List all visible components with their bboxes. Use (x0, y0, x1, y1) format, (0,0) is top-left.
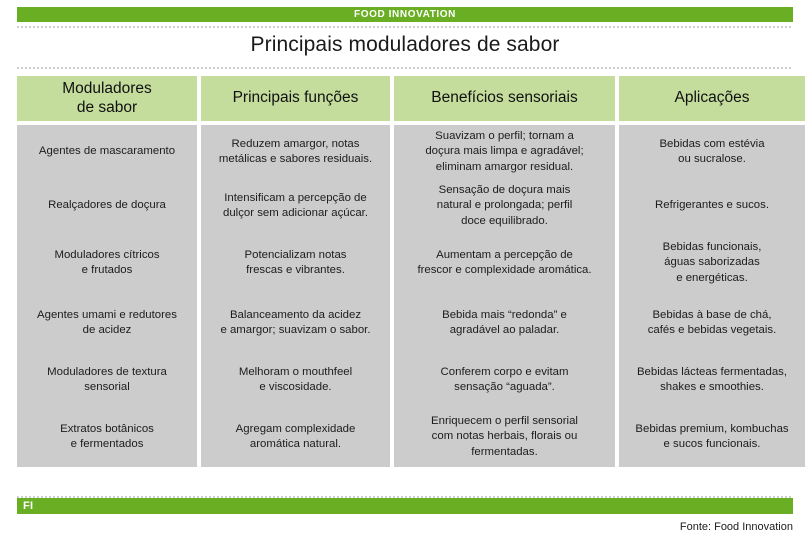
cell-modulator: Extratos botânicos e fermentados (17, 407, 197, 467)
column-header-applications: Aplicações (619, 76, 805, 121)
cell-application: Bebidas premium, kombuchas e sucos funci… (619, 407, 805, 467)
table-header-row: Moduladores de sabor Principais funções … (17, 76, 793, 121)
table-row: Agentes de mascaramento Reduzem amargor,… (17, 125, 793, 179)
cell-function: Agregam complexidade aromática natural. (201, 407, 390, 467)
footer-bar: FI (17, 498, 793, 514)
cell-modulator: Moduladores de textura sensorial (17, 353, 197, 407)
infographic-page: FOOD INNOVATION Principais moduladores d… (0, 7, 810, 542)
modulators-table: Moduladores de sabor Principais funções … (17, 76, 793, 467)
cell-application: Bebidas à base de chá, cafés e bebidas v… (619, 293, 805, 353)
table-row: Realçadores de doçura Intensificam a per… (17, 179, 793, 233)
brand-bar: FOOD INNOVATION (17, 7, 793, 22)
cell-modulator: Moduladores cítricos e frutados (17, 233, 197, 293)
fi-logo: FI (23, 501, 33, 512)
column-header-modulators: Moduladores de sabor (17, 76, 197, 121)
cell-application: Bebidas lácteas fermentadas, shakes e sm… (619, 353, 805, 407)
cell-function: Potencializam notas frescas e vibrantes. (201, 233, 390, 293)
table-row: Agentes umami e redutores de acidez Bala… (17, 293, 793, 353)
cell-benefit: Enriquecem o perfil sensorial com notas … (394, 407, 615, 467)
cell-application: Bebidas funcionais, águas saborizadas e … (619, 233, 805, 293)
brand-bar-label: FOOD INNOVATION (354, 9, 456, 20)
cell-benefit: Suavizam o perfil; tornam a doçura mais … (394, 125, 615, 179)
cell-benefit: Bebida mais “redonda” e agradável ao pal… (394, 293, 615, 353)
cell-benefit: Conferem corpo e evitam sensação “aguada… (394, 353, 615, 407)
cell-application: Refrigerantes e sucos. (619, 179, 805, 233)
cell-function: Reduzem amargor, notas metálicas e sabor… (201, 125, 390, 179)
table-row: Moduladores de textura sensorial Melhora… (17, 353, 793, 407)
column-header-functions: Principais funções (201, 76, 390, 121)
page-title: Principais moduladores de sabor (17, 28, 793, 61)
cell-modulator: Agentes de mascaramento (17, 125, 197, 179)
cell-function: Intensificam a percepção de dulçor sem a… (201, 179, 390, 233)
page-footer: FI Fonte: Food Innovation (17, 492, 793, 533)
cell-modulator: Realçadores de doçura (17, 179, 197, 233)
source-credit: Fonte: Food Innovation (17, 514, 793, 533)
cell-function: Balanceamento da acidez e amargor; suavi… (201, 293, 390, 353)
table-row: Moduladores cítricos e frutados Potencia… (17, 233, 793, 293)
divider-under-title (17, 67, 793, 69)
cell-function: Melhoram o mouthfeel e viscosidade. (201, 353, 390, 407)
cell-benefit: Sensação de doçura mais natural e prolon… (394, 179, 615, 233)
cell-benefit: Aumentam a percepção de frescor e comple… (394, 233, 615, 293)
table-body: Agentes de mascaramento Reduzem amargor,… (17, 125, 793, 467)
column-header-benefits: Benefícios sensoriais (394, 76, 615, 121)
cell-modulator: Agentes umami e redutores de acidez (17, 293, 197, 353)
table-row: Extratos botânicos e fermentados Agregam… (17, 407, 793, 467)
cell-application: Bebidas com estévia ou sucralose. (619, 125, 805, 179)
